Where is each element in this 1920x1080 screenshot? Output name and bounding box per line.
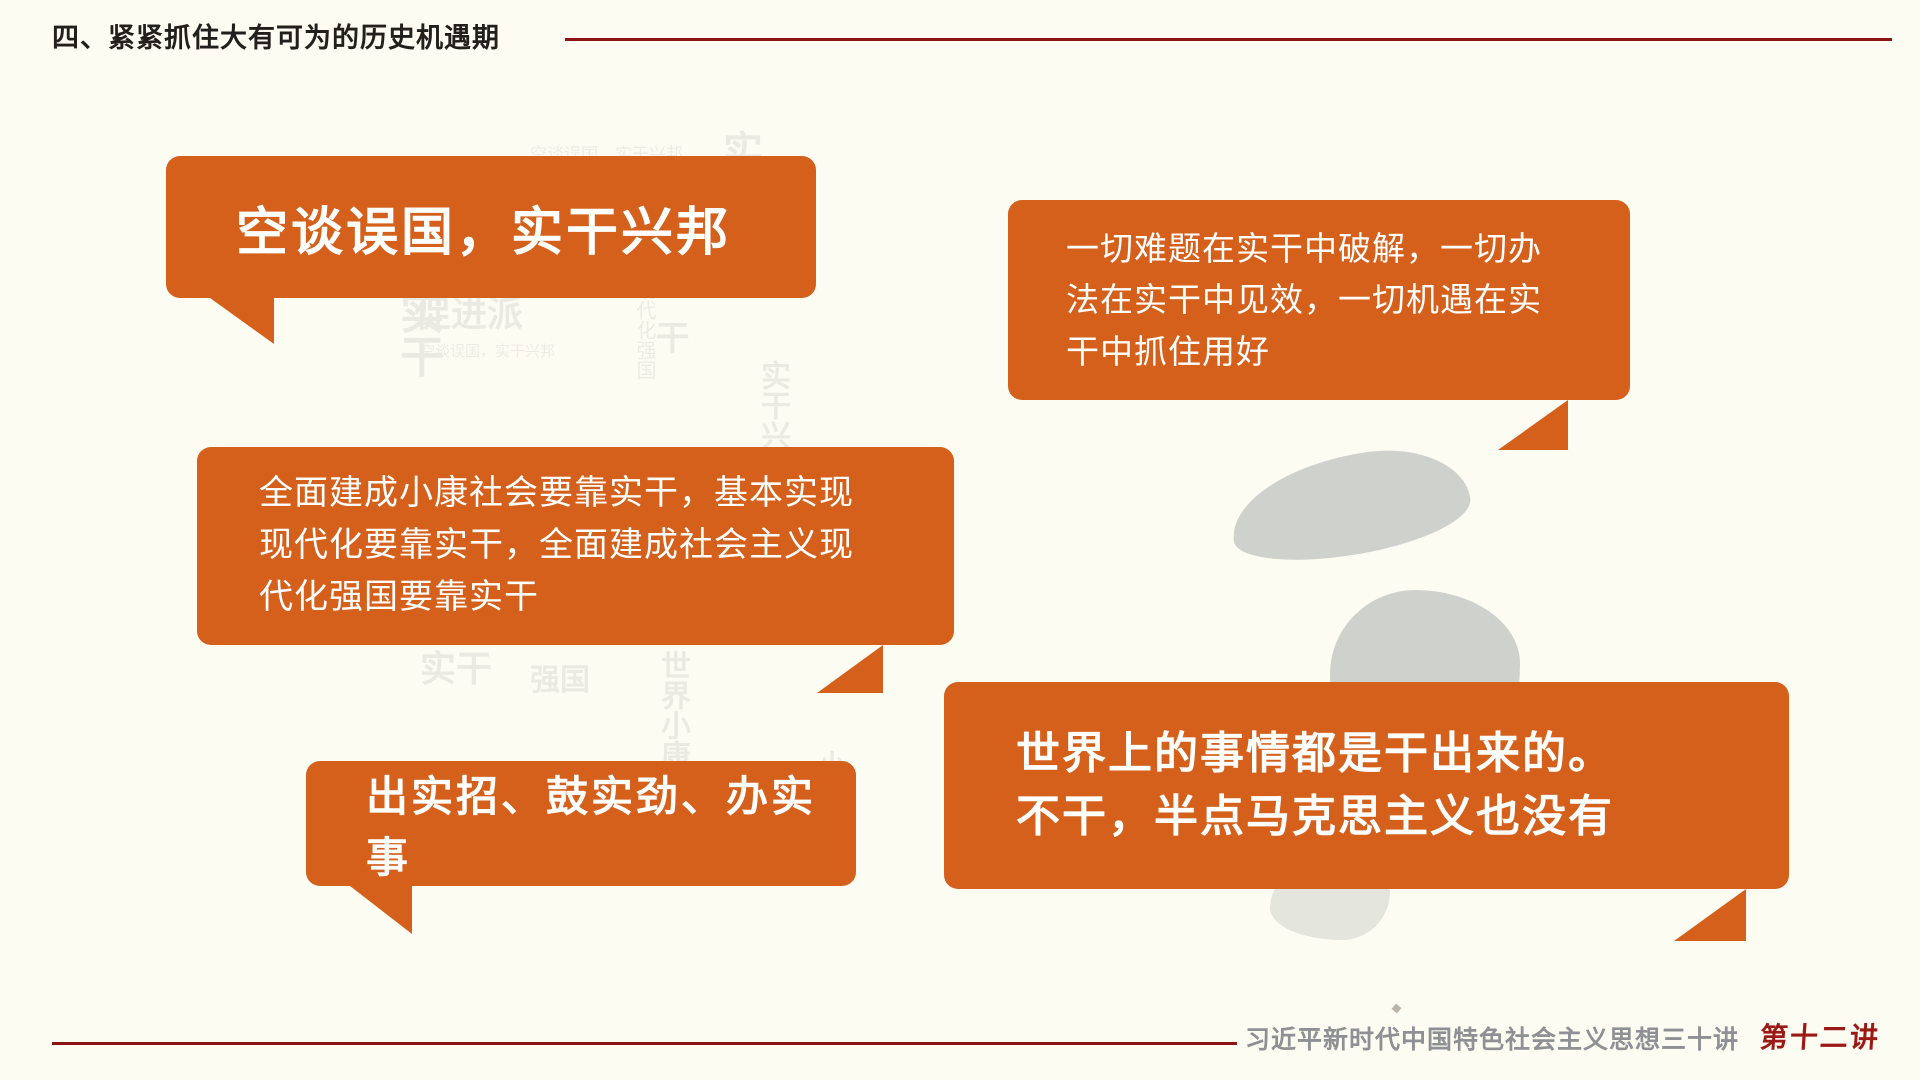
slide-header: 四、紧紧抓住大有可为的历史机遇期 [0,0,1920,70]
watermark-word: 实干 [385,290,449,378]
decor-shape-upper [1224,439,1476,571]
callout-text: 一切难题在实干中破解，一切办 法在实干中见效，一切机遇在实 干中抓住用好 [1008,223,1590,376]
footer-lesson-number: 第十二讲 [1759,1016,1882,1056]
callout-tail [1674,889,1746,941]
watermark-word: 干 [645,320,694,354]
callout-bubble-5[interactable]: 世界上的事情都是干出来的。 不干，半点马克思主义也没有 [944,682,1789,889]
page-title: 四、紧紧抓住大有可为的历史机遇期 [52,16,500,55]
callout-bubble-1[interactable]: 空谈误国，实干兴邦 [166,156,816,298]
callout-bubble-4[interactable]: 出实招、鼓实劲、办实事 [306,761,856,886]
callout-tail [1498,400,1568,450]
callout-bubble-3[interactable]: 全面建成小康社会要靠实干，基本实现 现代化要靠实干，全面建成社会主义现 代化强国… [197,447,954,645]
callout-text: 出实招、鼓实劲、办实事 [306,763,856,885]
callout-tail [350,886,412,934]
header-divider [565,38,1892,41]
callout-text: 全面建成小康社会要靠实干，基本实现 现代化要靠实干，全面建成社会主义现 代化强国… [197,468,894,623]
watermark-word: 空谈误国，实干兴邦 [420,340,555,361]
callout-tail [210,298,274,344]
callout-tail [817,645,883,693]
callout-text: 世界上的事情都是干出来的。 不干，半点马克思主义也没有 [944,723,1614,848]
watermark-word: 实干 [420,640,492,692]
watermark-word: 强国 [530,655,590,699]
footer-divider [52,1042,1237,1045]
callout-bubble-2[interactable]: 一切难题在实干中破解，一切办 法在实干中见效，一切机遇在实 干中抓住用好 [1008,200,1630,400]
footer-dot-marker [1392,1004,1402,1014]
footer-series-title: 习近平新时代中国特色社会主义思想三十讲 [1245,1020,1739,1056]
callout-text: 空谈误国，实干兴邦 [166,190,731,265]
slide-canvas: 空谈误国，实干兴邦 实干兴邦 全面改革现代化强国 促进派 实干 空谈误国，实干兴… [0,0,1920,1080]
